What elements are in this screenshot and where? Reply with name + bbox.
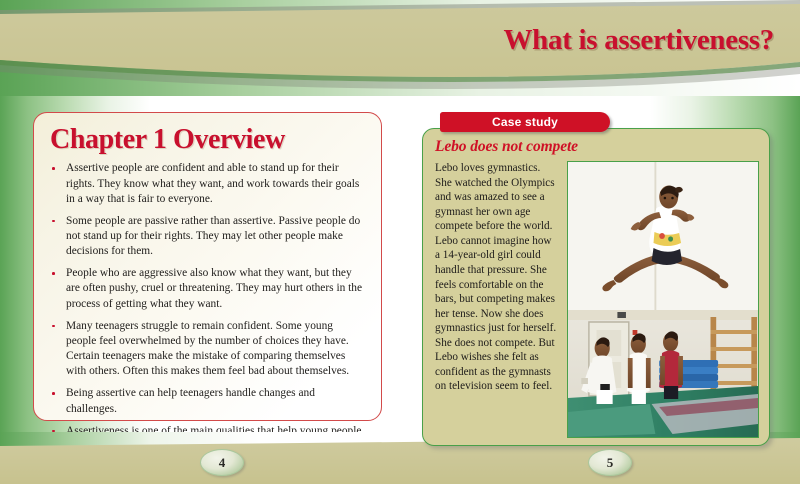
list-item-text: Being assertive can help teenagers handl… [66,387,315,414]
case-study-tab: Case study [440,112,610,132]
chapter-title: Chapter 1 Overview [50,125,365,154]
list-item-text: People who are aggressive also know what… [66,267,362,309]
bullet-dot-icon [52,392,55,395]
list-item-text: Many teenagers struggle to remain confid… [66,320,349,377]
page-number-right: 5 [588,449,632,476]
bullet-dot-icon [52,167,55,170]
bullet-dot-icon [52,325,55,328]
page-title: What is assertiveness? [503,24,774,57]
list-item: Some people are passive rather than asse… [44,214,365,259]
case-study-text: Lebo loves gymnastics. She watched the O… [433,161,559,438]
list-item: Assertive people are confident and able … [44,161,365,206]
case-study-body: Lebo loves gymnastics. She watched the O… [433,161,759,438]
bullet-dot-icon [52,220,55,223]
list-item: Many teenagers struggle to remain confid… [44,319,365,380]
page-number-left: 4 [200,449,244,476]
list-item: Being assertive can help teenagers handl… [44,386,365,416]
bullet-dot-icon [52,272,55,275]
gymnast-photo [567,161,759,438]
list-item-text: Assertive people are confident and able … [66,162,359,204]
list-item: People who are aggressive also know what… [44,266,365,311]
case-study-heading: Lebo does not compete [435,138,759,156]
case-study-box: Lebo does not compete Lebo loves gymnast… [422,128,770,446]
chapter-bullet-list: Assertive people are confident and able … [44,161,365,454]
list-item-text: Some people are passive rather than asse… [66,215,360,257]
chapter-overview-box: Chapter 1 Overview Assertive people are … [33,112,382,421]
